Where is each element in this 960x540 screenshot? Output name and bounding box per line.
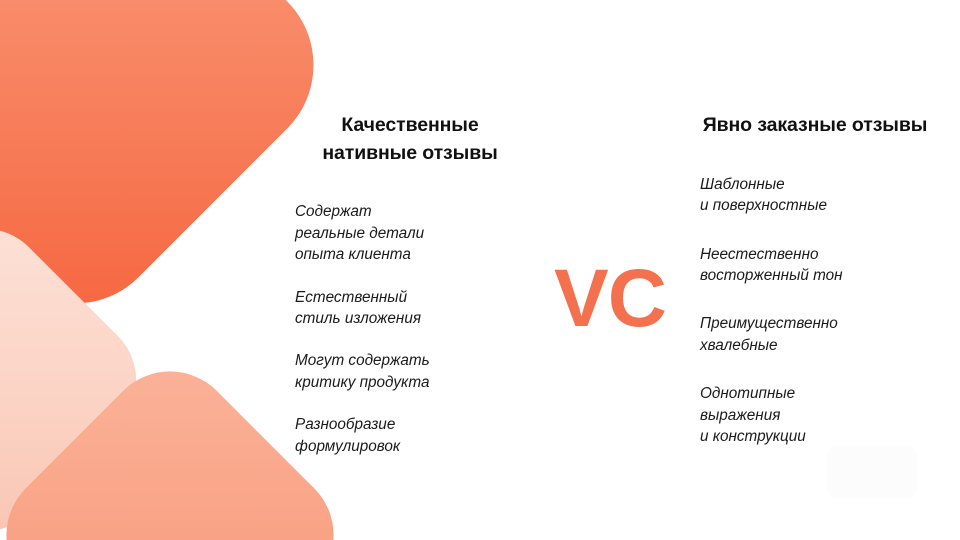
column-heading-negative: Явно заказные отзывы xyxy=(700,112,930,140)
list-item: Преимущественно хвалебные xyxy=(700,313,930,356)
comparison-column-positive: Качественные нативные отзывы Содержат ре… xyxy=(295,112,525,457)
slide-canvas: Качественные нативные отзывы Содержат ре… xyxy=(0,0,960,540)
negative-traits-list: Шаблонные и поверхностные Неестественно … xyxy=(700,174,930,448)
positive-traits-list: Содержат реальные детали опыта клиента Е… xyxy=(295,201,525,457)
comparison-column-negative: Явно заказные отзывы Шаблонные и поверхн… xyxy=(700,112,930,474)
list-item: Неестественно восторженный тон xyxy=(700,244,930,287)
list-item: Разнообразие формулировок xyxy=(295,414,525,457)
slide-content: Качественные нативные отзывы Содержат ре… xyxy=(0,0,960,540)
versus-divider-label: VC xyxy=(520,258,700,340)
list-item: Могут содержать критику продукта xyxy=(295,350,525,393)
column-heading-positive: Качественные нативные отзывы xyxy=(295,112,525,167)
list-item: Однотипные выражения и конструкции xyxy=(700,383,930,447)
list-item: Шаблонные и поверхностные xyxy=(700,174,930,217)
list-item: Естественный стиль изложения xyxy=(295,287,525,330)
list-item: Содержат реальные детали опыта клиента xyxy=(295,201,525,265)
